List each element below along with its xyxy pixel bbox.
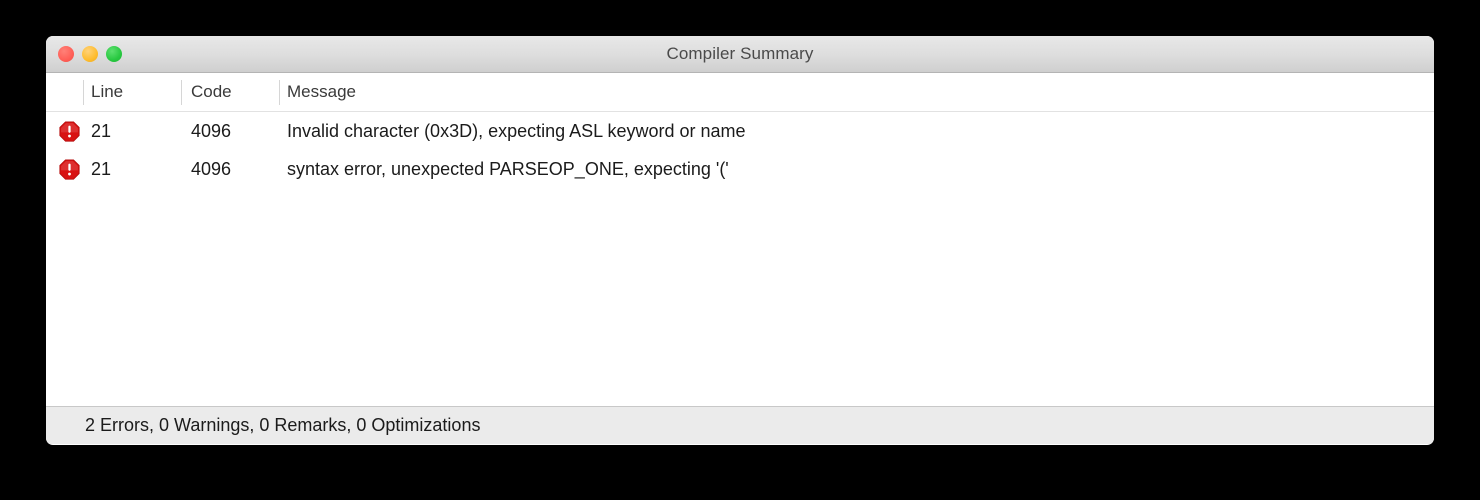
window-titlebar: Compiler Summary [46, 36, 1434, 73]
column-header-line[interactable]: Line [91, 73, 123, 111]
row-message-cell: Invalid character (0x3D), expecting ASL … [287, 112, 746, 150]
row-line-cell: 21 [91, 150, 111, 188]
minimize-button[interactable] [82, 46, 98, 62]
column-header-message[interactable]: Message [287, 73, 356, 111]
error-octagon-icon [59, 159, 80, 180]
status-summary-text: 2 Errors, 0 Warnings, 0 Remarks, 0 Optim… [85, 415, 480, 436]
column-divider [279, 80, 280, 105]
row-severity-cell [53, 112, 85, 150]
row-message-cell: syntax error, unexpected PARSEOP_ONE, ex… [287, 150, 729, 188]
error-octagon-icon [59, 121, 80, 142]
table-row[interactable]: 21 4096 syntax error, unexpected PARSEOP… [46, 150, 1434, 188]
compiler-summary-window: Compiler Summary Line Code Message 21 40… [46, 36, 1434, 445]
diagnostics-list[interactable]: 21 4096 Invalid character (0x3D), expect… [46, 112, 1434, 406]
window-controls [58, 36, 122, 72]
row-line-cell: 21 [91, 112, 111, 150]
row-code-cell: 4096 [191, 112, 231, 150]
maximize-button[interactable] [106, 46, 122, 62]
row-severity-cell [53, 150, 85, 188]
close-button[interactable] [58, 46, 74, 62]
table-row[interactable]: 21 4096 Invalid character (0x3D), expect… [46, 112, 1434, 150]
column-divider [181, 80, 182, 105]
column-divider [83, 80, 84, 105]
status-bar: 2 Errors, 0 Warnings, 0 Remarks, 0 Optim… [46, 406, 1434, 444]
window-title: Compiler Summary [666, 44, 813, 64]
column-header-code[interactable]: Code [191, 73, 232, 111]
table-header-row: Line Code Message [46, 73, 1434, 112]
row-code-cell: 4096 [191, 150, 231, 188]
